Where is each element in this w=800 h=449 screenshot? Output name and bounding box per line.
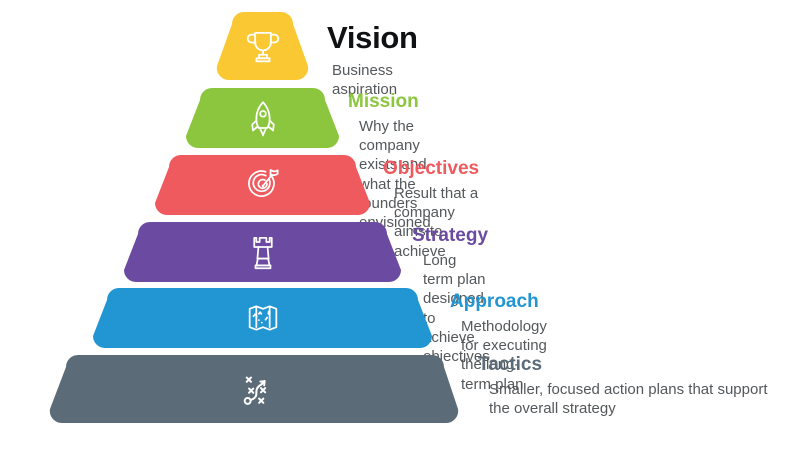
band-strategy[interactable] — [112, 222, 413, 282]
map-icon — [243, 298, 283, 338]
band-vision[interactable] — [205, 12, 320, 80]
band-mission[interactable] — [174, 88, 351, 148]
level-desc-tactics: Smaller, focused action plans that suppo… — [489, 380, 789, 418]
pyramid-level-strategy[interactable]: Strategy Long term plan designed to achi… — [0, 222, 301, 282]
level-title-approach: Approach — [450, 292, 547, 312]
label-block-tactics: Tactics Smaller, focused action plans th… — [478, 355, 789, 418]
trophy-icon — [242, 25, 284, 67]
level-title-strategy: Strategy — [412, 226, 490, 246]
level-title-mission: Mission — [348, 92, 431, 112]
pyramid-level-objectives[interactable]: Objectives Result that a company aims to… — [0, 155, 239, 215]
pyramid-level-approach[interactable]: Approach Methodology for executing the l… — [0, 288, 363, 348]
band-approach[interactable] — [81, 288, 444, 348]
target-flag-icon — [243, 165, 283, 205]
level-title-tactics: Tactics — [478, 355, 789, 375]
level-title-objectives: Objectives — [383, 159, 479, 179]
playbook-icon — [233, 367, 277, 411]
band-tactics[interactable] — [38, 355, 472, 423]
level-title-vision: Vision — [327, 22, 418, 55]
band-objectives[interactable] — [143, 155, 382, 215]
pyramid-level-tactics[interactable]: Tactics Smaller, focused action plans th… — [0, 355, 434, 423]
pyramid-level-mission[interactable]: Mission Why the company exists and what … — [0, 88, 177, 148]
pyramid-diagram: Vision Business aspiration Mission Why t… — [0, 0, 800, 449]
pyramid-level-vision[interactable]: Vision Business aspiration — [0, 12, 115, 80]
rocket-icon — [243, 98, 283, 138]
chess-rook-icon — [243, 232, 283, 272]
